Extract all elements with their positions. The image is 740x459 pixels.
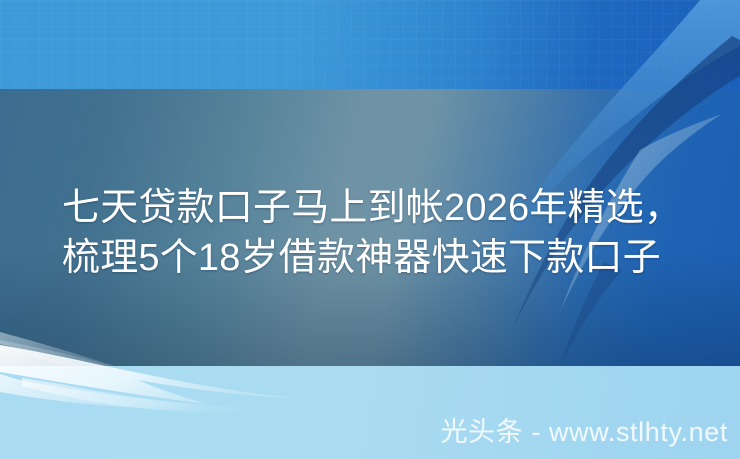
banner-image: 七天贷款口子马上到帐2026年精选， 梳理5个18岁借款神器快速下款口子 光头条…	[0, 0, 740, 459]
grid-texture-overlay	[0, 0, 740, 89]
background-band-top	[0, 0, 740, 89]
page-title: 七天贷款口子马上到帐2026年精选， 梳理5个18岁借款神器快速下款口子	[62, 183, 702, 283]
site-watermark: 光头条 - www.stlhty.net	[440, 416, 728, 448]
